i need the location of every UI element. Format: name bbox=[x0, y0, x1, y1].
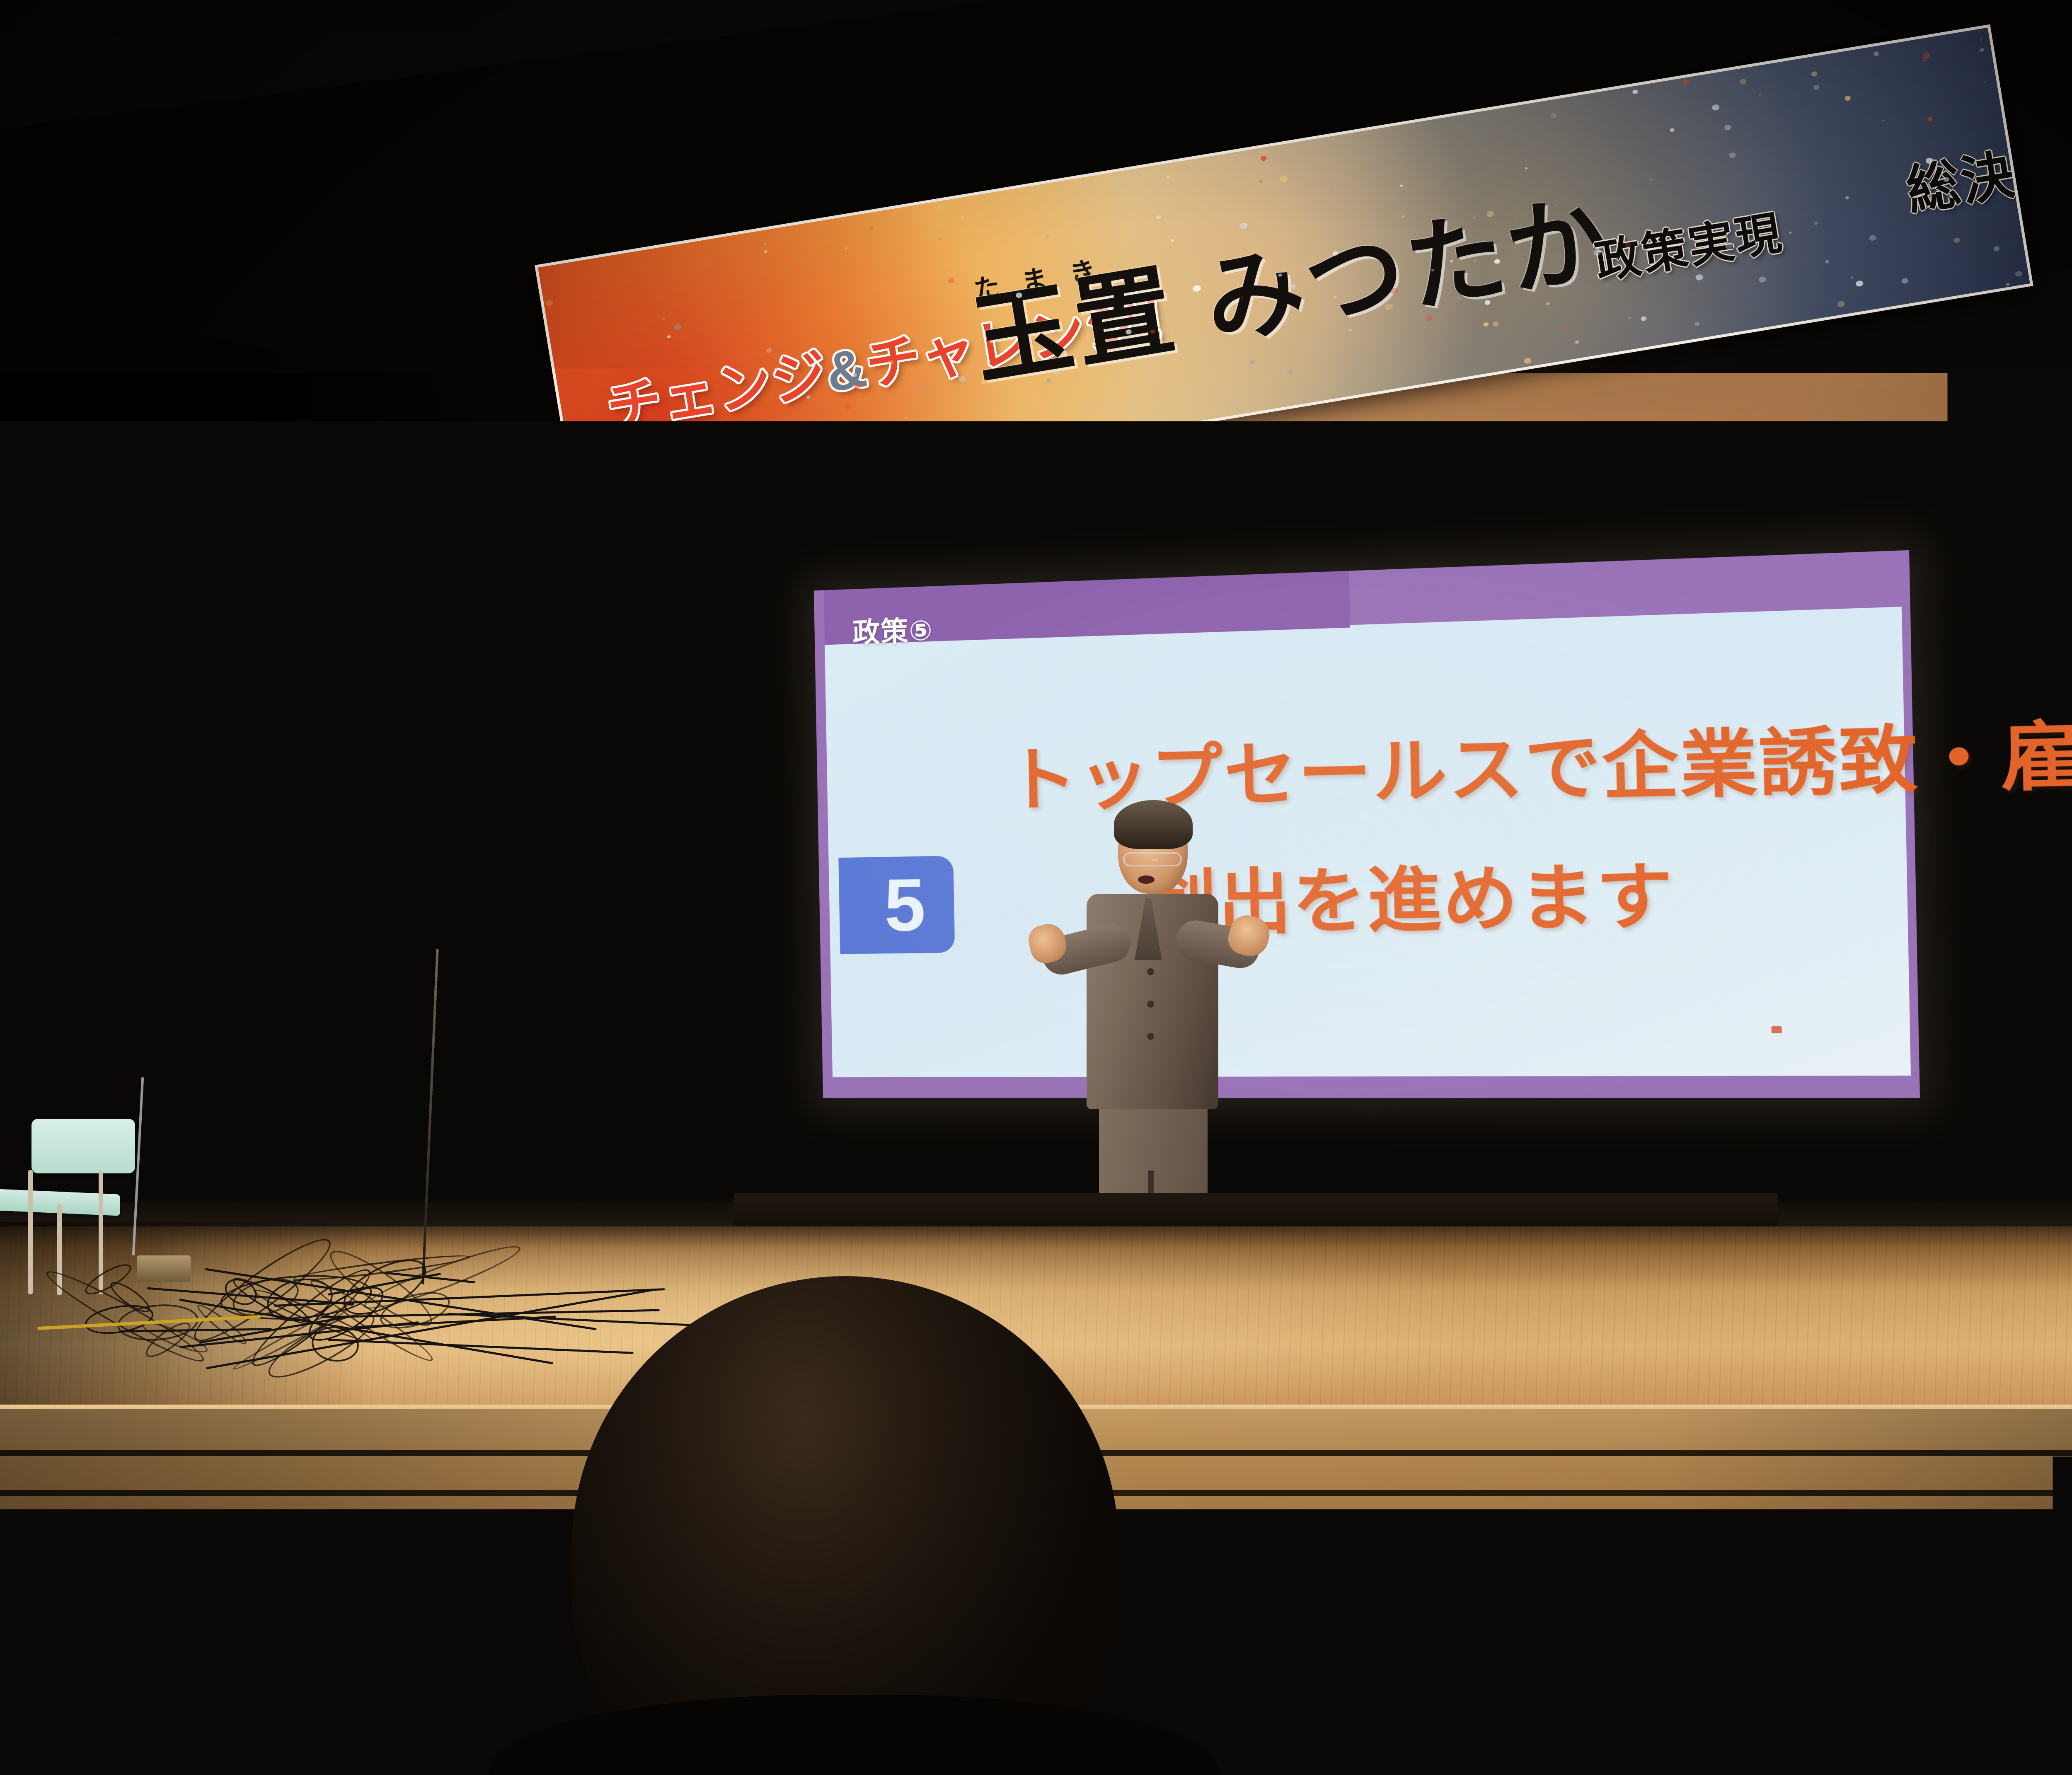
valance-scallop bbox=[443, 44, 477, 73]
valance-scallop bbox=[558, 29, 592, 58]
banner-speck bbox=[1825, 260, 1830, 264]
banner-speck bbox=[1641, 316, 1647, 321]
banner-speck bbox=[1239, 222, 1248, 230]
banner-speck bbox=[1156, 215, 1161, 219]
banner-speck bbox=[564, 371, 565, 372]
banner-speck bbox=[728, 474, 736, 481]
valance-scallop bbox=[731, 7, 765, 36]
banner-speck bbox=[1453, 362, 1455, 363]
valance-scallop bbox=[98, 88, 131, 116]
banner-speck bbox=[1874, 51, 1880, 56]
banner-speck bbox=[1724, 124, 1732, 131]
valance-scallop bbox=[587, 25, 621, 54]
valance-scallop bbox=[127, 85, 160, 113]
banner-speck bbox=[845, 247, 847, 249]
projection-screen: 5 トップセールスで企業誘致・雇用 創出を進めます 政策⑤ bbox=[814, 550, 1920, 1098]
banner-speck bbox=[1242, 297, 1243, 298]
banner-speck bbox=[1844, 95, 1851, 101]
banner-speck bbox=[1259, 179, 1263, 183]
banner-speck bbox=[1683, 80, 1690, 85]
banner-speck bbox=[1759, 94, 1761, 95]
banner-speck bbox=[2006, 283, 2009, 286]
banner-speck bbox=[1993, 246, 2000, 252]
valance-scallop bbox=[789, 0, 822, 28]
valance-scallop bbox=[875, 0, 908, 17]
valance-scallop bbox=[328, 58, 362, 87]
banner-speck bbox=[1628, 317, 1631, 319]
valance-scallop bbox=[760, 3, 793, 32]
banner-speck bbox=[1811, 71, 1818, 77]
slide-tab-label: 政策⑤ bbox=[852, 608, 933, 651]
banner-speck bbox=[1927, 116, 1933, 121]
banner-speck bbox=[1249, 359, 1255, 364]
banner-speck bbox=[1493, 321, 1499, 326]
banner-speck bbox=[1728, 152, 1736, 159]
nobori-side-text: 広島県福山市長候補 bbox=[448, 822, 462, 904]
banner-speck bbox=[1980, 48, 1985, 52]
interpreter-glasses bbox=[1123, 852, 1182, 866]
banner-subtitle-left: 政策実現 bbox=[1592, 210, 1786, 286]
banner-speck bbox=[1869, 235, 1876, 241]
slide-badge-number: 5 bbox=[884, 868, 926, 942]
banner-speck bbox=[1330, 189, 1334, 191]
banner-speck bbox=[1850, 276, 1854, 279]
banner-speck bbox=[1845, 196, 1849, 200]
banner-candidate-name: 玉置 みつたか bbox=[966, 189, 1616, 392]
banner-speck bbox=[1170, 239, 1174, 242]
banner-speck bbox=[738, 255, 740, 256]
banner-speck bbox=[1758, 276, 1766, 283]
banner-speck bbox=[2015, 271, 2023, 277]
valance-scallop bbox=[242, 70, 276, 98]
banner-speck bbox=[667, 335, 671, 338]
banner-speck bbox=[869, 227, 874, 231]
valance-scallop bbox=[846, 0, 880, 21]
valance-scallop bbox=[702, 11, 736, 39]
valance-scallop bbox=[184, 77, 218, 106]
valance-scallop bbox=[903, 0, 937, 13]
valance-scallop bbox=[40, 95, 74, 124]
banner-speck bbox=[1695, 274, 1704, 281]
banner-speck bbox=[662, 317, 665, 319]
banner-speck bbox=[1739, 79, 1747, 85]
banner-speck bbox=[1357, 145, 1360, 148]
banner-speck bbox=[1546, 302, 1550, 305]
banner-speck bbox=[1984, 82, 1986, 83]
banner-speck bbox=[1137, 242, 1139, 244]
banner-speck bbox=[1483, 322, 1489, 327]
banner-speck bbox=[1837, 300, 1845, 307]
valance-scallop bbox=[12, 99, 45, 128]
valance-scallop bbox=[932, 0, 966, 10]
valance-scallop bbox=[673, 15, 707, 43]
banner-speck bbox=[763, 250, 768, 254]
banner-speck bbox=[1260, 155, 1267, 161]
banner-speck bbox=[1279, 175, 1288, 182]
banner-speck bbox=[1408, 335, 1409, 336]
banner-speck bbox=[1649, 177, 1654, 182]
banner-speck bbox=[1979, 38, 1983, 41]
banner-speck bbox=[947, 278, 955, 284]
banner-speck bbox=[820, 417, 821, 418]
banner-speck bbox=[1694, 322, 1699, 326]
slide-ink-mark bbox=[1772, 1026, 1782, 1033]
banner-speck bbox=[1571, 329, 1573, 331]
banner-speck bbox=[764, 244, 767, 246]
banner-speck bbox=[937, 203, 944, 209]
banner-speck bbox=[1813, 85, 1820, 91]
valance-scallop bbox=[961, 0, 995, 6]
stage-photo-scene: チェンジ&チャレンジ！ たまき 玉置 みつたか 政策実現 総決起集会 5 トップ… bbox=[0, 0, 2072, 1775]
banner-speck bbox=[1711, 104, 1720, 111]
banner-speck bbox=[796, 254, 803, 260]
banner-speck bbox=[1856, 280, 1864, 287]
banner-speck bbox=[1813, 221, 1818, 225]
banner-speck bbox=[1632, 89, 1639, 94]
banner-speck bbox=[674, 324, 681, 330]
banner-speck bbox=[843, 403, 851, 410]
banner-speck bbox=[1883, 120, 1884, 121]
banner-speck bbox=[1045, 235, 1049, 239]
valance-scallop bbox=[645, 18, 678, 46]
banner-speck bbox=[1953, 237, 1961, 243]
banner-speck bbox=[1901, 278, 1908, 284]
banner-speck bbox=[1574, 340, 1579, 344]
valance-scallop bbox=[414, 48, 448, 76]
banner-speck bbox=[1058, 399, 1063, 402]
valance-scallop bbox=[472, 40, 506, 69]
banner-speck bbox=[1440, 178, 1442, 179]
banner-speck bbox=[575, 479, 577, 480]
banner-speck bbox=[1789, 232, 1791, 234]
valance-scallop bbox=[271, 66, 304, 94]
banner-speck bbox=[1525, 167, 1528, 169]
banner-speck bbox=[1400, 185, 1403, 187]
banner-speck bbox=[920, 433, 926, 438]
slide-body: 5 トップセールスで企業誘致・雇用 創出を進めます bbox=[825, 607, 1911, 1077]
valance-scallop bbox=[990, 0, 1024, 2]
slide-number-badge: 5 bbox=[838, 856, 955, 954]
banner-speck bbox=[1563, 326, 1567, 329]
valance-scallop bbox=[213, 73, 247, 102]
valance-scallop bbox=[357, 55, 390, 83]
banner-speck bbox=[905, 417, 907, 418]
banner-speck bbox=[1287, 368, 1294, 375]
valance-scallop bbox=[155, 81, 189, 109]
banner-speck bbox=[545, 300, 554, 307]
banner-speck bbox=[1166, 175, 1170, 179]
valance-scallop bbox=[69, 92, 103, 120]
valance-scallop bbox=[386, 51, 419, 80]
valance-scallop bbox=[616, 22, 649, 50]
banner-speck bbox=[1524, 358, 1532, 364]
valance-scallop bbox=[530, 33, 563, 61]
banner-tagline-change: チェンジ bbox=[603, 343, 832, 440]
valance-scallop bbox=[817, 0, 851, 24]
valance-scallop bbox=[501, 36, 534, 65]
banner-speck bbox=[1473, 218, 1475, 219]
banner-speck bbox=[961, 216, 964, 220]
valance-scallop bbox=[0, 103, 17, 131]
floor-wedge-monitor bbox=[137, 1255, 191, 1282]
banner-speck bbox=[1550, 113, 1557, 119]
banner-speck bbox=[938, 238, 941, 240]
valance-scallop bbox=[299, 62, 333, 91]
banner-speck bbox=[1670, 128, 1675, 132]
